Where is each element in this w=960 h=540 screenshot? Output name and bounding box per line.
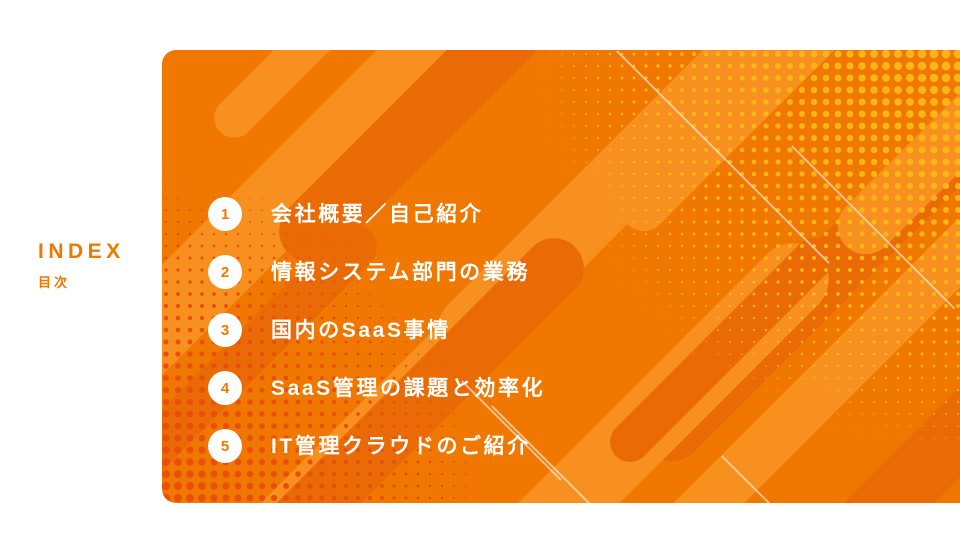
index-item-number-badge: 5 [208, 429, 242, 463]
slide-canvas: INDEX 目次 1会社概要／自己紹介2情報システム部門の業務3国内のSaaS事… [0, 0, 960, 540]
page-title: INDEX [38, 240, 158, 263]
index-item-label: 会社概要／自己紹介 [271, 204, 483, 225]
index-list: 1会社概要／自己紹介2情報システム部門の業務3国内のSaaS事情4SaaS管理の… [162, 50, 960, 503]
index-side-label: INDEX 目次 [38, 240, 158, 290]
index-list-item[interactable]: 4SaaS管理の課題と効率化 [208, 370, 545, 406]
index-item-number-badge: 3 [208, 313, 242, 347]
index-item-number-badge: 4 [208, 371, 242, 405]
page-subtitle: 目次 [38, 276, 158, 290]
index-item-label: SaaS管理の課題と効率化 [271, 378, 545, 399]
index-item-label: IT管理クラウドのご紹介 [271, 436, 531, 457]
index-list-item[interactable]: 3国内のSaaS事情 [208, 312, 451, 348]
index-item-number-badge: 2 [208, 255, 242, 289]
index-item-label: 情報システム部門の業務 [271, 262, 530, 283]
index-list-item[interactable]: 2情報システム部門の業務 [208, 254, 530, 290]
index-list-item[interactable]: 5IT管理クラウドのご紹介 [208, 428, 531, 464]
index-item-label: 国内のSaaS事情 [271, 320, 451, 341]
index-list-item[interactable]: 1会社概要／自己紹介 [208, 196, 483, 232]
index-item-number-badge: 1 [208, 197, 242, 231]
index-card: 1会社概要／自己紹介2情報システム部門の業務3国内のSaaS事情4SaaS管理の… [162, 50, 960, 503]
